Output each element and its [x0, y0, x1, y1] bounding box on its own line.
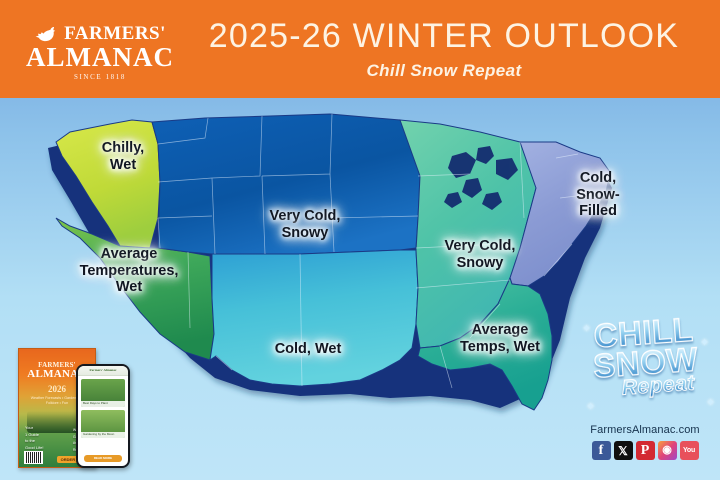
instagram-icon[interactable]: ◉ — [658, 441, 677, 460]
youtube-icon[interactable]: You — [680, 441, 699, 460]
social-icon-row: f 𝕏 P ◉ You — [572, 441, 718, 460]
x-twitter-icon[interactable]: 𝕏 — [614, 441, 633, 460]
sparkle-icon: ✦ — [700, 336, 709, 349]
winter-outlook-infographic: FARMERS' ALMANAC SINCE 1818 2025-26 WINT… — [0, 0, 720, 480]
header-banner: FARMERS' ALMANAC SINCE 1818 2025-26 WINT… — [0, 0, 720, 98]
phone-mockup[interactable]: Farmers' Almanac Best Days to Plant Gard… — [76, 364, 130, 468]
sparkle-icon: ✦ — [586, 400, 595, 413]
magazine-blurb-left: Your 1 Guide to the Good Life! — [25, 425, 43, 451]
phone-screen: Farmers' Almanac Best Days to Plant Gard… — [78, 366, 128, 466]
magazine-barcode — [24, 451, 43, 464]
pinterest-icon[interactable]: P — [636, 441, 655, 460]
phone-appbar-title: Farmers' Almanac — [78, 366, 128, 376]
facebook-icon[interactable]: f — [592, 441, 611, 460]
page-subtitle: Chill Snow Repeat — [186, 61, 702, 81]
region-northern-plains — [152, 114, 420, 254]
logo-since-text: SINCE 1818 — [26, 74, 174, 81]
phone-cta-button[interactable]: READ MORE — [84, 455, 122, 462]
phone-card-1-caption: Best Days to Plant — [81, 401, 125, 407]
phone-card-1[interactable]: Best Days to Plant — [81, 379, 125, 407]
sparkle-icon: ✦ — [706, 396, 715, 409]
phone-card-2[interactable]: Gardening by the Moon — [81, 410, 125, 438]
logo-farmers-text: FARMERS' — [64, 24, 166, 43]
sparkle-icon: ✦ — [582, 322, 591, 335]
website-link[interactable]: FarmersAlmanac.com — [572, 424, 718, 436]
logo-almanac-text: ALMANAC — [26, 44, 174, 71]
phone-card-2-caption: Gardening by the Moon — [81, 432, 125, 438]
footer-block: FarmersAlmanac.com f 𝕏 P ◉ You — [572, 424, 718, 460]
logo-top-row: FARMERS' — [26, 24, 174, 43]
chill-snow-repeat-badge: CHILL SNOW Repeat — [575, 313, 718, 422]
rooster-icon — [34, 25, 60, 43]
page-title: 2025-26 WINTER OUTLOOK — [186, 19, 702, 55]
region-southern-plains — [210, 250, 418, 386]
product-promo-inset[interactable]: FARMERS' ALMANAC 2026 Weather Forecasts … — [18, 344, 140, 472]
title-block: 2025-26 WINTER OUTLOOK Chill Snow Repeat — [186, 19, 702, 81]
farmers-almanac-logo[interactable]: FARMERS' ALMANAC SINCE 1818 — [26, 24, 174, 82]
